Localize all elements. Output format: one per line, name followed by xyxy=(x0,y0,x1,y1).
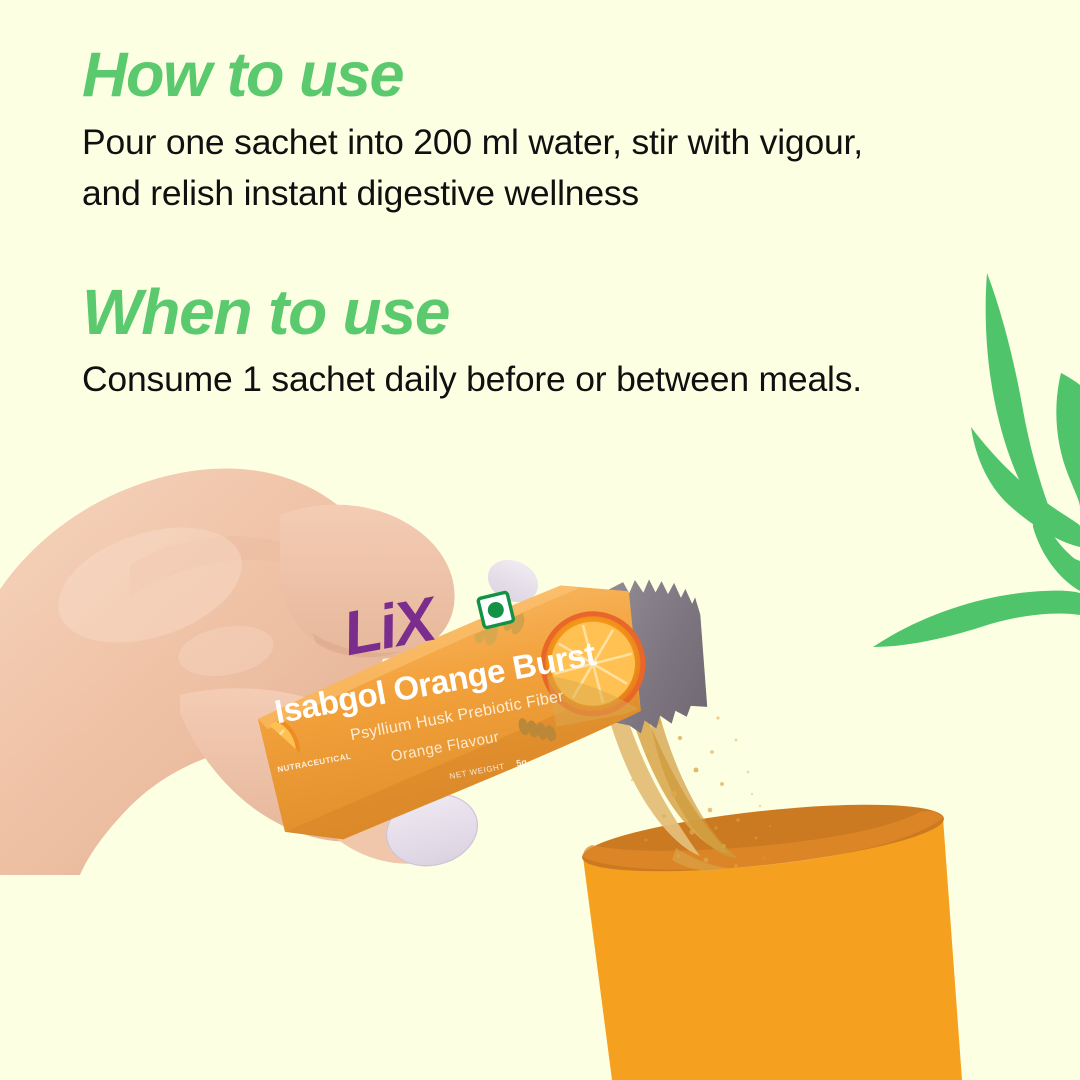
heading-when-to-use: When to use xyxy=(82,280,902,344)
body-when-to-use: Consume 1 sachet daily before or between… xyxy=(82,354,872,405)
section-spacer xyxy=(82,220,902,280)
product-sachet: LiX Isabgol Orange Burst Psyllium Husk P… xyxy=(250,560,810,890)
heading-how-to-use: How to use xyxy=(82,44,902,107)
sachet-net-weight-value: 5g xyxy=(515,757,527,769)
section-when-to-use: When to use Consume 1 sachet daily befor… xyxy=(82,280,902,405)
section-how-to-use: How to use Pour one sachet into 200 ml w… xyxy=(82,44,902,220)
instructions-content: How to use Pour one sachet into 200 ml w… xyxy=(82,44,902,405)
plant-leaves-icon xyxy=(873,273,1080,647)
veg-mark-icon xyxy=(478,592,514,628)
body-how-to-use: Pour one sachet into 200 ml water, stir … xyxy=(82,117,872,220)
poster-canvas: LiX Isabgol Orange Burst Psyllium Husk P… xyxy=(0,0,1080,1080)
